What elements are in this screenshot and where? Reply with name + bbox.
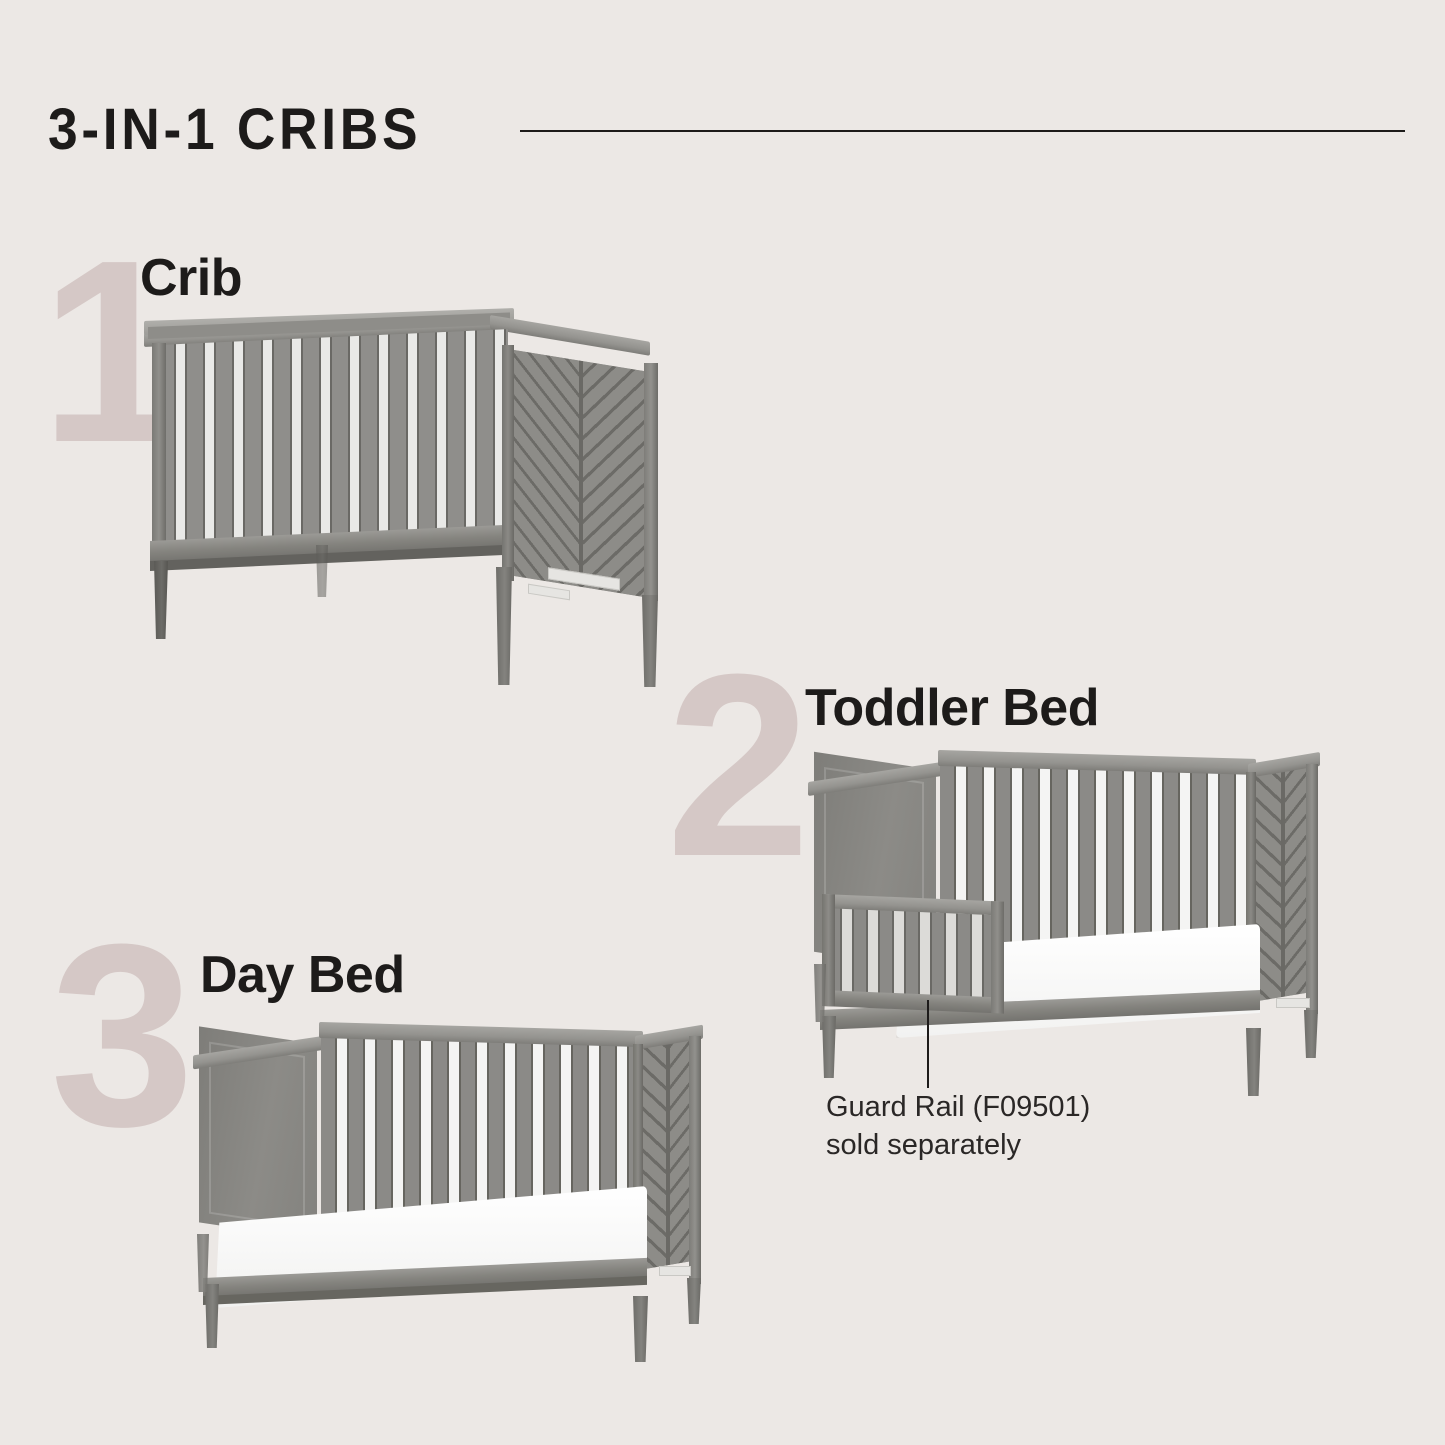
crib-leg-back-left — [316, 545, 328, 597]
day-bed-illustration — [185, 1018, 715, 1348]
guard-rail-callout-line2: sold separately — [826, 1126, 1090, 1164]
daybed-leg-front-left — [205, 1284, 219, 1348]
crib-illustration — [130, 305, 700, 705]
step-label-crib: Crib — [140, 248, 242, 308]
crib-leg-front-right — [496, 567, 512, 685]
daybed-leg-back-right — [687, 1278, 701, 1324]
crib-leg-front-left — [154, 561, 168, 639]
guard-rail-leader-line — [927, 1000, 929, 1088]
guard-rail-callout-line1: Guard Rail (F09501) — [826, 1088, 1090, 1126]
guard-rail-right-post — [991, 901, 1004, 1014]
daybed-leg-back-left — [197, 1234, 209, 1292]
daybed-leg-front-right — [633, 1296, 648, 1362]
chevron-center-seam — [1281, 770, 1285, 997]
step-number-2: 2 — [666, 662, 811, 870]
step-label-toddler-bed: Toddler Bed — [805, 678, 1099, 738]
toddler-product-sticker — [1276, 998, 1310, 1008]
chevron-center-seam — [579, 360, 583, 587]
daybed-headboard-inset — [209, 1042, 305, 1228]
step-label-day-bed: Day Bed — [200, 945, 405, 1005]
toddler-leg-back-right — [1304, 1010, 1318, 1058]
chevron-center-seam — [666, 1043, 670, 1266]
guard-rail-assembly — [822, 894, 1004, 1024]
crib-product-sticker-small — [528, 584, 570, 601]
toddler-chevron-end-panel — [1252, 766, 1314, 1002]
toddler-leg-front-left — [822, 1016, 836, 1078]
crib-end-panel-left-stile — [502, 345, 514, 581]
guard-rail-slats — [828, 908, 998, 999]
toddler-bed-illustration — [800, 748, 1330, 1078]
title-divider-rule — [520, 130, 1405, 132]
daybed-end-panel-right-stile — [689, 1036, 701, 1284]
crib-leg-back-right — [642, 595, 658, 687]
guard-rail-callout: Guard Rail (F09501) sold separately — [826, 1088, 1090, 1165]
page-title: 3-IN-1 CRIBS — [48, 96, 421, 163]
chevron-left-half — [508, 349, 581, 587]
step-number-3: 3 — [50, 932, 195, 1140]
toddler-leg-back-left — [814, 964, 826, 1022]
infographic-canvas: 3-IN-1 CRIBS 1 Crib — [0, 0, 1445, 1445]
toddler-end-panel-right-stile — [1306, 764, 1318, 1014]
daybed-product-sticker — [659, 1266, 691, 1276]
crib-end-panel-right-stile — [644, 363, 658, 601]
toddler-leg-front-right — [1246, 1028, 1261, 1096]
crib-chevron-end-panel — [508, 349, 654, 599]
crib-front-left-stile — [152, 343, 166, 555]
